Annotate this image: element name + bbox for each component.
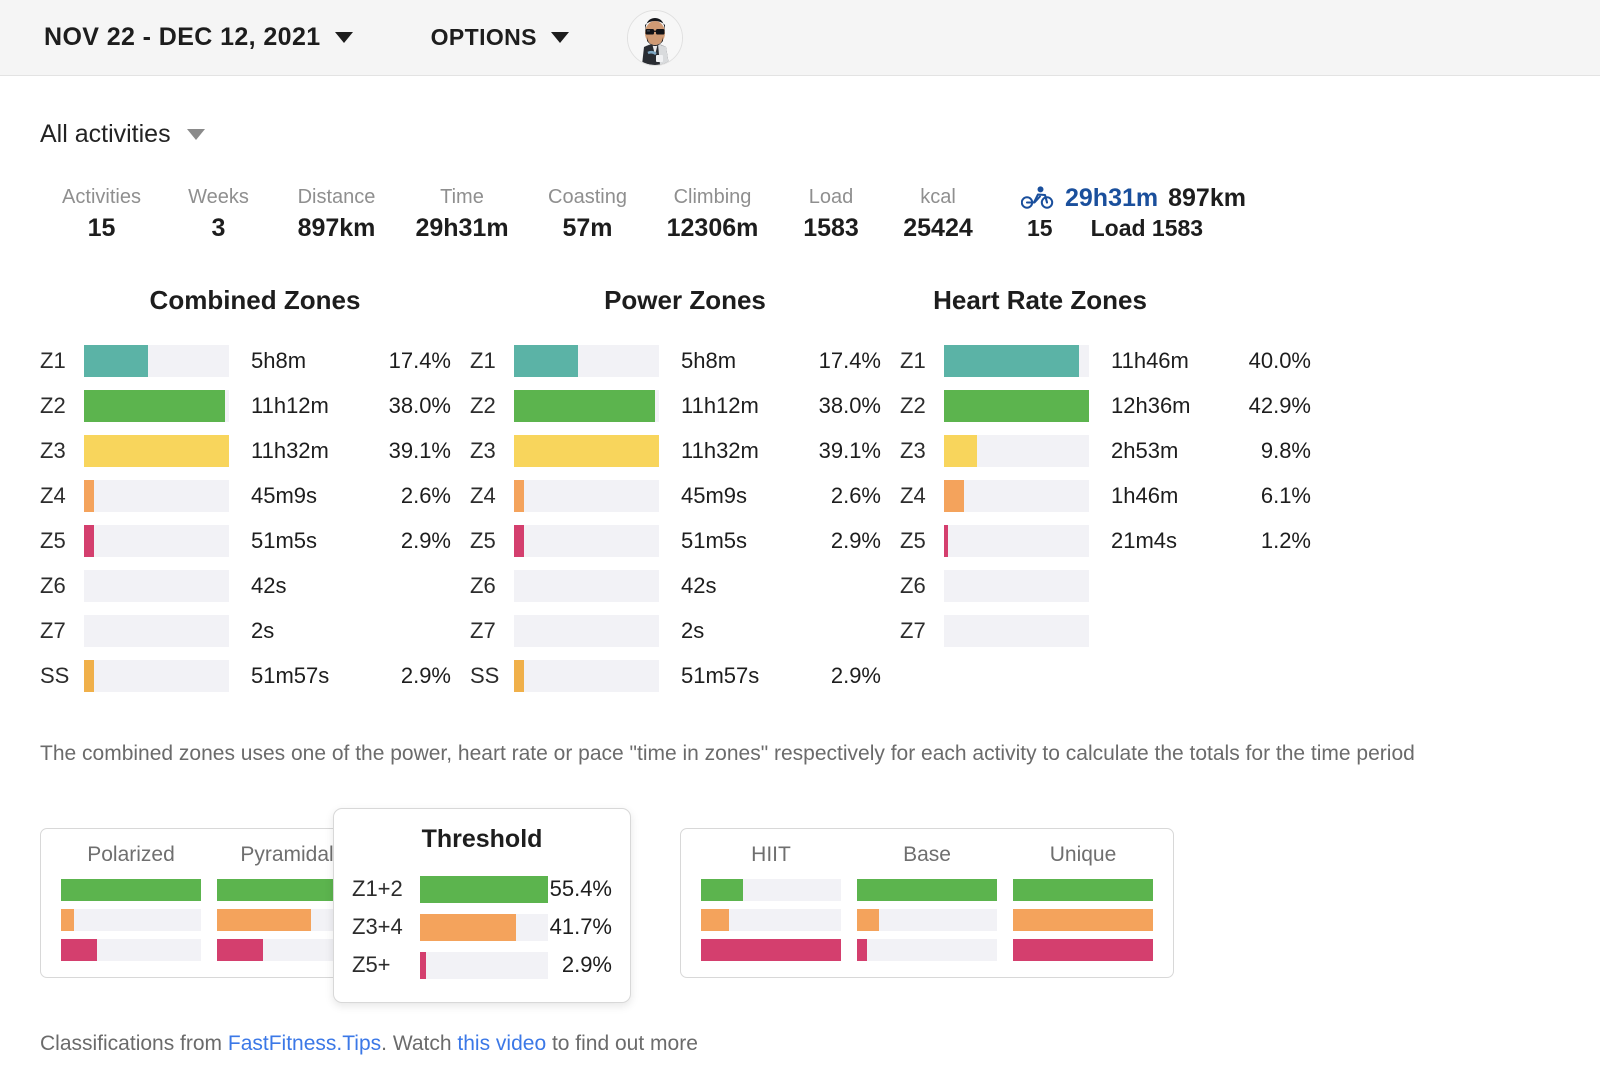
zone-bar-track (944, 435, 1089, 467)
sport-load: Load 1583 (1091, 215, 1204, 242)
zone-time: 2s (681, 618, 797, 644)
tooltip-bar-fill (420, 952, 426, 979)
classification-title: Polarized (61, 843, 201, 867)
zone-label: SS (40, 663, 84, 689)
footer-suffix: to find out more (546, 1032, 698, 1055)
zone-bar-fill (944, 345, 1079, 377)
zone-time: 2s (251, 618, 367, 644)
zone-panel-combined: Combined Zones Z15h8m17.4%Z211h12m38.0%Z… (40, 285, 470, 698)
stat-label: Activities (40, 183, 163, 211)
options-label: OPTIONS (431, 24, 537, 51)
classification-bar-track (701, 909, 841, 931)
zone-bar-track (84, 615, 229, 647)
sport-time: 29h31m (1065, 183, 1158, 213)
zone-row: Z445m9s2.6% (470, 473, 900, 518)
sport-distance: 897km (1168, 183, 1246, 213)
combined-zones-rows: Z15h8m17.4%Z211h12m38.0%Z311h32m39.1%Z44… (40, 338, 470, 698)
zone-bar-track (514, 390, 659, 422)
activity-filter-dropdown[interactable]: All activities (40, 120, 1560, 149)
zone-label: Z4 (900, 483, 944, 509)
zone-row: Z6 (900, 563, 1330, 608)
zone-time: 5h8m (681, 348, 797, 374)
zone-bar-fill (84, 525, 94, 557)
zone-label: Z3 (900, 438, 944, 464)
zone-row: Z551m5s2.9% (40, 518, 470, 563)
zone-time: 45m9s (681, 483, 797, 509)
zone-time: 42s (681, 573, 797, 599)
zone-bar-track (84, 435, 229, 467)
threshold-tooltip: Threshold Z1+255.4%Z3+441.7%Z5+2.9% (333, 808, 631, 1003)
zone-bar-track (84, 525, 229, 557)
sport-summary: 29h31m 897km 15 Load 1583 (1021, 183, 1246, 242)
zone-label: Z5 (470, 528, 514, 554)
zone-bar-fill (944, 525, 948, 557)
zone-row: Z41h46m6.1% (900, 473, 1330, 518)
classification-bar-fill (857, 909, 879, 931)
tooltip-row: Z1+255.4% (352, 870, 612, 908)
classification-bar-track (1013, 939, 1153, 961)
zone-percent: 2.9% (367, 528, 451, 554)
classification-bar-fill (1013, 939, 1153, 961)
classification-bar-track (1013, 909, 1153, 931)
zone-row: Z311h32m39.1% (40, 428, 470, 473)
zone-time: 11h12m (251, 393, 367, 419)
classification-bar-track (857, 879, 997, 901)
zone-time: 12h36m (1111, 393, 1227, 419)
classification-title: Base (857, 843, 997, 867)
zone-bar-fill (84, 435, 229, 467)
tooltip-rows: Z1+255.4%Z3+441.7%Z5+2.9% (352, 870, 612, 984)
zone-label: Z7 (900, 618, 944, 644)
classification-bar-fill (61, 939, 97, 961)
fastfitness-link[interactable]: FastFitness.Tips (228, 1032, 381, 1055)
zone-row: Z642s (40, 563, 470, 608)
heart-rate-zones-rows: Z111h46m40.0%Z212h36m42.9%Z32h53m9.8%Z41… (900, 338, 1330, 653)
zone-percent: 39.1% (797, 438, 881, 464)
zone-label: Z7 (40, 618, 84, 644)
tooltip-bar-track (420, 914, 548, 941)
zone-row: Z15h8m17.4% (40, 338, 470, 383)
sport-summary-top: 29h31m 897km (1021, 183, 1246, 213)
zone-time: 2h53m (1111, 438, 1227, 464)
zone-row: Z551m5s2.9% (470, 518, 900, 563)
zone-bar-fill (514, 390, 655, 422)
stat-label: Climbing (650, 183, 775, 211)
zone-time: 5h8m (251, 348, 367, 374)
zone-row: Z72s (40, 608, 470, 653)
stat-load: Load1583 (775, 183, 887, 245)
classification-bar-fill (61, 879, 201, 901)
tooltip-title: Threshold (352, 825, 612, 854)
zone-bar-track (84, 660, 229, 692)
zone-bar-fill (944, 435, 977, 467)
zone-panel-heart-rate: Heart Rate Zones Z111h46m40.0%Z212h36m42… (900, 285, 1330, 698)
zone-label: Z6 (40, 573, 84, 599)
classification-bar-fill (217, 909, 311, 931)
zone-label: Z6 (900, 573, 944, 599)
power-zones-rows: Z15h8m17.4%Z211h12m38.0%Z311h32m39.1%Z44… (470, 338, 900, 698)
stats-row: Activities15Weeks3Distance897kmTime29h31… (40, 183, 1560, 245)
zone-time: 51m5s (681, 528, 797, 554)
classification-column-polarized: Polarized (61, 843, 201, 961)
zone-percent: 1.2% (1227, 528, 1311, 554)
stat-kcal: kcal25424 (887, 183, 989, 245)
classification-bar-fill (1013, 909, 1153, 931)
page-content: All activities Activities15Weeks3Distanc… (0, 120, 1600, 1056)
zone-label: Z2 (470, 393, 514, 419)
video-link[interactable]: this video (457, 1032, 546, 1055)
classification-bar-track (61, 879, 201, 901)
power-zones-title: Power Zones (470, 285, 900, 316)
avatar[interactable] (627, 10, 683, 66)
zone-label: Z2 (40, 393, 84, 419)
zone-time: 1h46m (1111, 483, 1227, 509)
zone-row: Z445m9s2.6% (40, 473, 470, 518)
stat-value: 15 (40, 211, 163, 245)
zone-percent: 38.0% (367, 393, 451, 419)
zone-time: 42s (251, 573, 367, 599)
classification-bar-fill (857, 879, 997, 901)
zone-time: 51m57s (251, 663, 367, 689)
zone-bar-fill (84, 480, 94, 512)
zone-row: Z32h53m9.8% (900, 428, 1330, 473)
stat-value: 57m (525, 211, 650, 245)
cyclist-icon (1021, 186, 1055, 210)
zone-bar-track (944, 525, 1089, 557)
tooltip-bar-fill (420, 876, 548, 903)
footer-credits: Classifications from FastFitness.Tips. W… (40, 1032, 1560, 1056)
zone-bar-fill (514, 660, 524, 692)
stats-list: Activities15Weeks3Distance897kmTime29h31… (40, 183, 989, 245)
zone-percent: 2.9% (797, 528, 881, 554)
options-menu-button[interactable]: OPTIONS (431, 24, 569, 51)
stat-label: Weeks (163, 183, 274, 211)
zone-bar-track (84, 390, 229, 422)
zone-percent: 17.4% (797, 348, 881, 374)
zone-bar-track (514, 525, 659, 557)
zone-percent: 40.0% (1227, 348, 1311, 374)
stat-label: Time (399, 183, 525, 211)
zone-panels: Combined Zones Z15h8m17.4%Z211h12m38.0%Z… (40, 285, 1560, 698)
classification-bar-track (701, 939, 841, 961)
zone-percent: 9.8% (1227, 438, 1311, 464)
zone-row: SS51m57s2.9% (470, 653, 900, 698)
stat-distance: Distance897km (274, 183, 399, 245)
avatar-wrapper[interactable] (627, 10, 683, 66)
classification-bar-fill (1013, 879, 1153, 901)
zone-bar-fill (514, 435, 659, 467)
zone-label: Z1 (900, 348, 944, 374)
classification-bar-fill (701, 909, 729, 931)
zone-label: Z3 (470, 438, 514, 464)
zone-time: 11h32m (681, 438, 797, 464)
zone-row: Z642s (470, 563, 900, 608)
tooltip-zone-label: Z5+ (352, 952, 420, 978)
footer-prefix: Classifications from (40, 1032, 228, 1055)
zone-row: Z15h8m17.4% (470, 338, 900, 383)
top-bar: NOV 22 - DEC 12, 2021 OPTIONS (0, 0, 1600, 76)
zone-bar-track (84, 570, 229, 602)
zone-label: Z7 (470, 618, 514, 644)
zone-label: Z6 (470, 573, 514, 599)
zone-time: 11h12m (681, 393, 797, 419)
zone-percent: 39.1% (367, 438, 451, 464)
zone-bar-track (514, 615, 659, 647)
sport-summary-bottom: 15 Load 1583 (1021, 215, 1203, 242)
zone-bar-fill (84, 390, 225, 422)
zone-row: Z311h32m39.1% (470, 428, 900, 473)
zone-bar-track (84, 345, 229, 377)
zone-time: 21m4s (1111, 528, 1227, 554)
zone-row: Z212h36m42.9% (900, 383, 1330, 428)
tooltip-percent: 41.7% (548, 914, 612, 940)
zone-percent: 17.4% (367, 348, 451, 374)
tooltip-zone-label: Z1+2 (352, 876, 420, 902)
zone-bar-fill (944, 390, 1089, 422)
classification-column-hiit: HIIT (701, 843, 841, 961)
classification-bar-track (857, 909, 997, 931)
zone-row: Z7 (900, 608, 1330, 653)
stat-value: 897km (274, 211, 399, 245)
zone-percent: 42.9% (1227, 393, 1311, 419)
zone-percent: 2.6% (367, 483, 451, 509)
tooltip-bar-fill (420, 914, 516, 941)
classification-bar-fill (701, 939, 841, 961)
stat-label: Load (775, 183, 887, 211)
stat-time: Time29h31m (399, 183, 525, 245)
classification-bar-fill (217, 939, 263, 961)
zone-row: Z521m4s1.2% (900, 518, 1330, 563)
tooltip-row: Z5+2.9% (352, 946, 612, 984)
zone-time: 11h46m (1111, 348, 1227, 374)
zone-label: Z3 (40, 438, 84, 464)
zone-label: SS (470, 663, 514, 689)
zone-row: Z72s (470, 608, 900, 653)
tooltip-bar-track (420, 876, 548, 903)
zone-bar-track (514, 345, 659, 377)
zone-row: Z211h12m38.0% (40, 383, 470, 428)
classification-bar-fill (61, 909, 74, 931)
classification-title: Unique (1013, 843, 1153, 867)
zone-label: Z5 (40, 528, 84, 554)
zone-bar-fill (514, 345, 578, 377)
explainer-text: The combined zones uses one of the power… (40, 742, 1560, 766)
date-range-label: NOV 22 - DEC 12, 2021 (44, 23, 321, 52)
classification-card-right: HIITBaseUnique (680, 828, 1174, 978)
zone-label: Z4 (40, 483, 84, 509)
stat-value: 1583 (775, 211, 887, 245)
zone-time: 11h32m (251, 438, 367, 464)
classification-bar-track (857, 939, 997, 961)
classification-bar-track (61, 939, 201, 961)
combined-zones-title: Combined Zones (40, 285, 470, 316)
zone-label: Z1 (470, 348, 514, 374)
zone-bar-fill (84, 345, 148, 377)
zone-bar-track (84, 480, 229, 512)
zone-time: 51m5s (251, 528, 367, 554)
stat-climbing: Climbing12306m (650, 183, 775, 245)
zone-bar-fill (514, 480, 524, 512)
sport-activity-count: 15 (1027, 215, 1053, 242)
zone-bar-track (944, 345, 1089, 377)
zone-bar-track (944, 570, 1089, 602)
activity-filter-label: All activities (40, 120, 171, 149)
tooltip-percent: 2.9% (548, 952, 612, 978)
zone-percent: 6.1% (1227, 483, 1311, 509)
zone-label: Z2 (900, 393, 944, 419)
stat-value: 12306m (650, 211, 775, 245)
tooltip-row: Z3+441.7% (352, 908, 612, 946)
stat-label: kcal (887, 183, 989, 211)
zone-percent: 38.0% (797, 393, 881, 419)
tooltip-zone-label: Z3+4 (352, 914, 420, 940)
stat-weeks: Weeks3 (163, 183, 274, 245)
chevron-down-icon (335, 32, 353, 43)
classification-area: PolarizedPyramidalThreshold HIITBaseUniq… (40, 808, 1560, 988)
zone-bar-track (944, 480, 1089, 512)
zone-time: 45m9s (251, 483, 367, 509)
stat-value: 3 (163, 211, 274, 245)
classification-title: HIIT (701, 843, 841, 867)
zone-bar-fill (84, 660, 94, 692)
stat-label: Coasting (525, 183, 650, 211)
zone-percent: 2.6% (797, 483, 881, 509)
footer-middle: . Watch (381, 1032, 457, 1055)
stat-coasting: Coasting57m (525, 183, 650, 245)
zone-bar-track (514, 480, 659, 512)
tooltip-percent: 55.4% (548, 876, 612, 902)
avatar-photo (628, 11, 682, 65)
classification-bar-track (61, 909, 201, 931)
chevron-down-icon (551, 32, 569, 43)
classification-column-base: Base (857, 843, 997, 961)
zone-bar-track (944, 390, 1089, 422)
tooltip-bar-track (420, 952, 548, 979)
classification-column-unique: Unique (1013, 843, 1153, 961)
stat-value: 25424 (887, 211, 989, 245)
classification-bar-fill (701, 879, 743, 901)
zone-label: Z1 (40, 348, 84, 374)
zone-bar-track (514, 660, 659, 692)
classification-bar-fill (857, 939, 867, 961)
zone-bar-track (514, 570, 659, 602)
zone-panel-power: Power Zones Z15h8m17.4%Z211h12m38.0%Z311… (470, 285, 900, 698)
classification-right-columns: HIITBaseUnique (693, 843, 1161, 961)
zone-time: 51m57s (681, 663, 797, 689)
zone-percent: 2.9% (797, 663, 881, 689)
stat-value: 29h31m (399, 211, 525, 245)
chevron-down-icon (187, 129, 205, 140)
heart-rate-zones-title: Heart Rate Zones (900, 285, 1330, 316)
zone-percent: 2.9% (367, 663, 451, 689)
classification-bar-track (701, 879, 841, 901)
zone-row: Z111h46m40.0% (900, 338, 1330, 383)
zone-label: Z4 (470, 483, 514, 509)
zone-bar-fill (514, 525, 524, 557)
stat-activities: Activities15 (40, 183, 163, 245)
zone-label: Z5 (900, 528, 944, 554)
date-range-selector[interactable]: NOV 22 - DEC 12, 2021 (44, 23, 353, 52)
zone-bar-track (944, 615, 1089, 647)
zone-row: Z211h12m38.0% (470, 383, 900, 428)
stat-label: Distance (274, 183, 399, 211)
zone-row: SS51m57s2.9% (40, 653, 470, 698)
classification-bar-track (1013, 879, 1153, 901)
zone-bar-fill (944, 480, 964, 512)
zone-bar-track (514, 435, 659, 467)
